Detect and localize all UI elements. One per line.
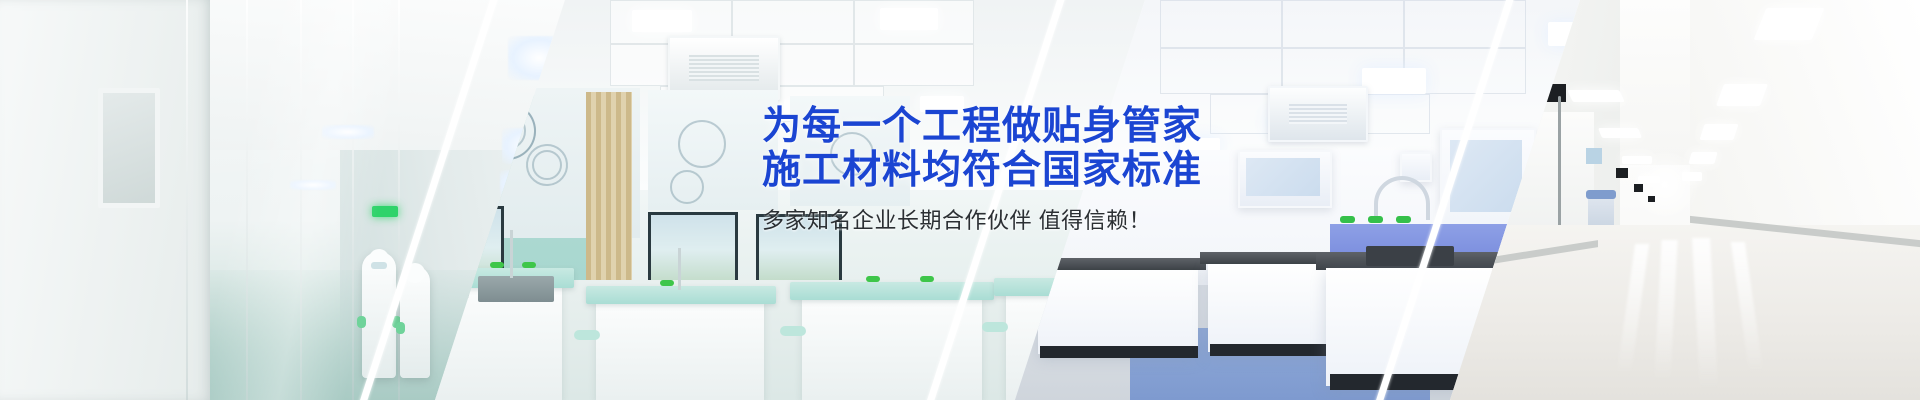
headline-line-2: 施工材料均符合国家标准: [762, 149, 1462, 193]
bench-sink: [1366, 246, 1454, 266]
hero-banner: 为每一个工程做贴身管家 施工材料均符合国家标准 多家知名企业长期合作伙伴 值得信…: [0, 0, 1920, 400]
banner-copy: 为每一个工程做贴身管家 施工材料均符合国家标准 多家知名企业长期合作伙伴 值得信…: [762, 105, 1462, 235]
headline-line-1: 为每一个工程做贴身管家: [762, 105, 1462, 149]
banner-subtitle: 多家知名企业长期合作伙伴 值得信赖！: [762, 207, 1462, 235]
